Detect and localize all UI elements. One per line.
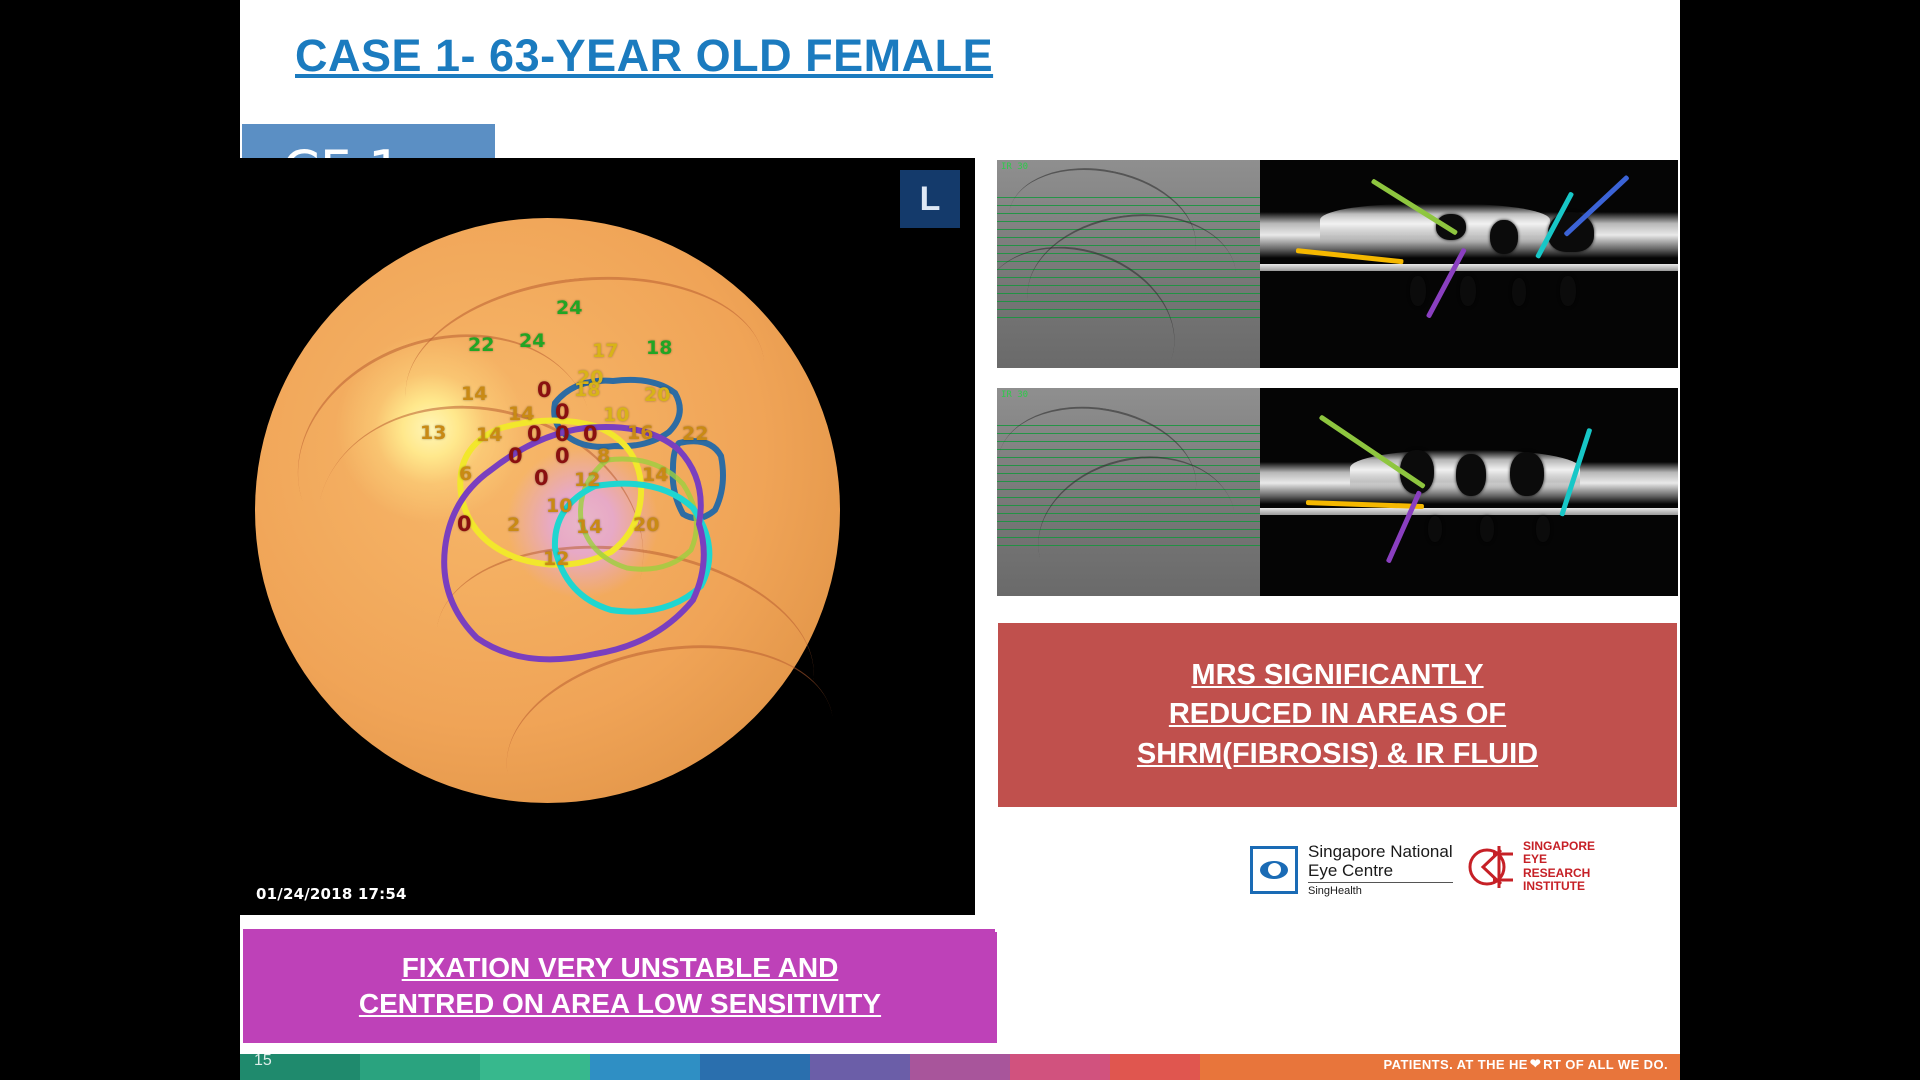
heart-icon: ❤ [1530,1056,1541,1072]
bscan-image-top [1260,160,1680,368]
intraretinal-cyst [1510,452,1544,496]
strip-seg [360,1054,480,1080]
footer-color-strip: PATIENTS. AT THE HE ❤ RT OF ALL WE DO. 1… [240,1054,1680,1080]
microperimetry-value: 14 [642,464,668,486]
microperimetry-value: 10 [546,495,572,517]
intraretinal-cyst [1490,220,1518,254]
microperimetry-value: 6 [459,463,472,485]
strip-seg [480,1054,590,1080]
microperimetry-value: 0 [537,378,552,402]
outer-retinal-tubulation [1428,516,1442,542]
fundus-microperimetry-panel: 2422241817201401820140101314000162200860… [240,158,975,915]
conclusion-line3: SHRM(FIBROSIS) & IR FLUID [1137,735,1538,774]
rpe-layer [1260,508,1680,515]
microperimetry-value: 16 [627,422,653,444]
fixation-caption: FIXATION VERY UNSTABLE AND CENTRED ON AR… [240,926,1000,1046]
conclusion-line1: MRS SIGNIFICANTLY [1191,656,1483,695]
conclusion-box: MRS SIGNIFICANTLY REDUCED IN AREAS OF SH… [995,620,1680,810]
microperimetry-value: 0 [508,444,523,468]
microperimetry-value: 0 [555,422,570,446]
slide-canvas: CASE 1- 63-YEAR OLD FEMALE CF 1m [240,0,1680,1080]
enface-tag: IR 30 [1001,162,1028,172]
page-number: 15 [254,1052,272,1078]
enface-tag: IR 30 [1001,390,1028,400]
microperimetry-value: 14 [461,383,487,405]
snec-logo-text: Singapore National Eye Centre SingHealth [1308,842,1453,897]
capture-timestamp: 01/24/2018 17:54 [256,885,407,903]
logo-row: Singapore National Eye Centre SingHealth [995,820,1680,932]
microperimetry-value: 12 [543,548,569,570]
bscan-image-bottom [1260,388,1680,596]
oct-scan-bottom: IR 30 [995,386,1680,598]
fixation-caption-line1: FIXATION VERY UNSTABLE AND [402,950,839,986]
microperimetry-value: 0 [583,422,598,446]
intraretinal-cyst [1456,454,1486,496]
conclusion-line2: REDUCED IN AREAS OF [1169,695,1506,734]
strip-seg [1110,1054,1200,1080]
outer-retinal-tubulation [1512,278,1526,306]
outer-retinal-tubulation [1536,516,1550,542]
microperimetry-value: 0 [457,512,472,536]
microperimetry-value: 0 [527,422,542,446]
outer-retinal-tubulation [1560,276,1576,306]
rpe-layer [1260,264,1680,271]
pupil-shape [1268,863,1281,876]
strip-seg [1010,1054,1110,1080]
seri-mark-icon [1465,844,1515,890]
outer-retinal-tubulation [1410,276,1426,306]
microperimetry-value: 17 [592,340,618,362]
eye-shape [1260,861,1288,879]
snec-line2: Eye Centre [1308,861,1453,880]
strip-seg [810,1054,910,1080]
oct-scan-top: IR 30 [995,158,1680,370]
microperimetry-value: 22 [468,334,494,356]
seri-logo-text: SINGAPORE EYE RESEARCH INSTITUTE [1523,840,1595,894]
microperimetry-value: 0 [555,400,570,424]
outer-retinal-tubulation [1460,276,1476,306]
oct-panel-group: IR 30 [995,158,1680,598]
strip-seg [590,1054,700,1080]
microperimetry-value: 13 [420,422,446,444]
seri-line1: SINGAPORE [1523,840,1595,853]
enface-ir-image-bottom: IR 30 [997,388,1260,596]
seri-line3: RESEARCH [1523,867,1595,880]
strip-seg [700,1054,810,1080]
microperimetry-value: 18 [646,337,672,359]
eye-laterality-badge: L [900,170,960,228]
microperimetry-value: 24 [556,297,582,319]
microperimetry-value: 8 [597,445,610,467]
microperimetry-value: 10 [603,404,629,426]
microperimetry-value: 0 [555,444,570,468]
tagline-after: RT OF ALL WE DO. [1543,1057,1668,1072]
strip-seg [910,1054,1010,1080]
snec-line3: SingHealth [1308,882,1453,897]
microperimetry-value: 22 [682,423,708,445]
fixation-caption-line2: CENTRED ON AREA LOW SENSITIVITY [359,986,881,1022]
seri-logo: SINGAPORE EYE RESEARCH INSTITUTE [1465,840,1595,894]
microperimetry-value: 14 [576,516,602,538]
enface-ir-image-top: IR 30 [997,160,1260,368]
microperimetry-value: 20 [644,384,670,406]
microperimetry-value: 14 [476,424,502,446]
page-title: CASE 1- 63-YEAR OLD FEMALE [295,30,1355,82]
microperimetry-value: 20 [633,514,659,536]
outer-retinal-tubulation [1480,516,1494,542]
seri-line4: INSTITUTE [1523,880,1595,893]
slide-stage: CASE 1- 63-YEAR OLD FEMALE CF 1m [0,0,1920,1080]
microperimetry-value: 18 [574,379,600,401]
seri-line2: EYE [1523,853,1595,866]
footer-tagline: PATIENTS. AT THE HE ❤ RT OF ALL WE DO. [1384,1051,1668,1077]
snec-line1: Singapore National [1308,842,1453,861]
tagline-before: PATIENTS. AT THE HE [1384,1057,1528,1072]
microperimetry-value: 0 [534,466,549,490]
eye-icon [1250,846,1298,894]
microperimetry-value: 12 [574,469,600,491]
microperimetry-value: 24 [519,330,545,352]
microperimetry-value: 2 [507,514,520,536]
snec-logo: Singapore National Eye Centre SingHealth [1250,842,1453,897]
